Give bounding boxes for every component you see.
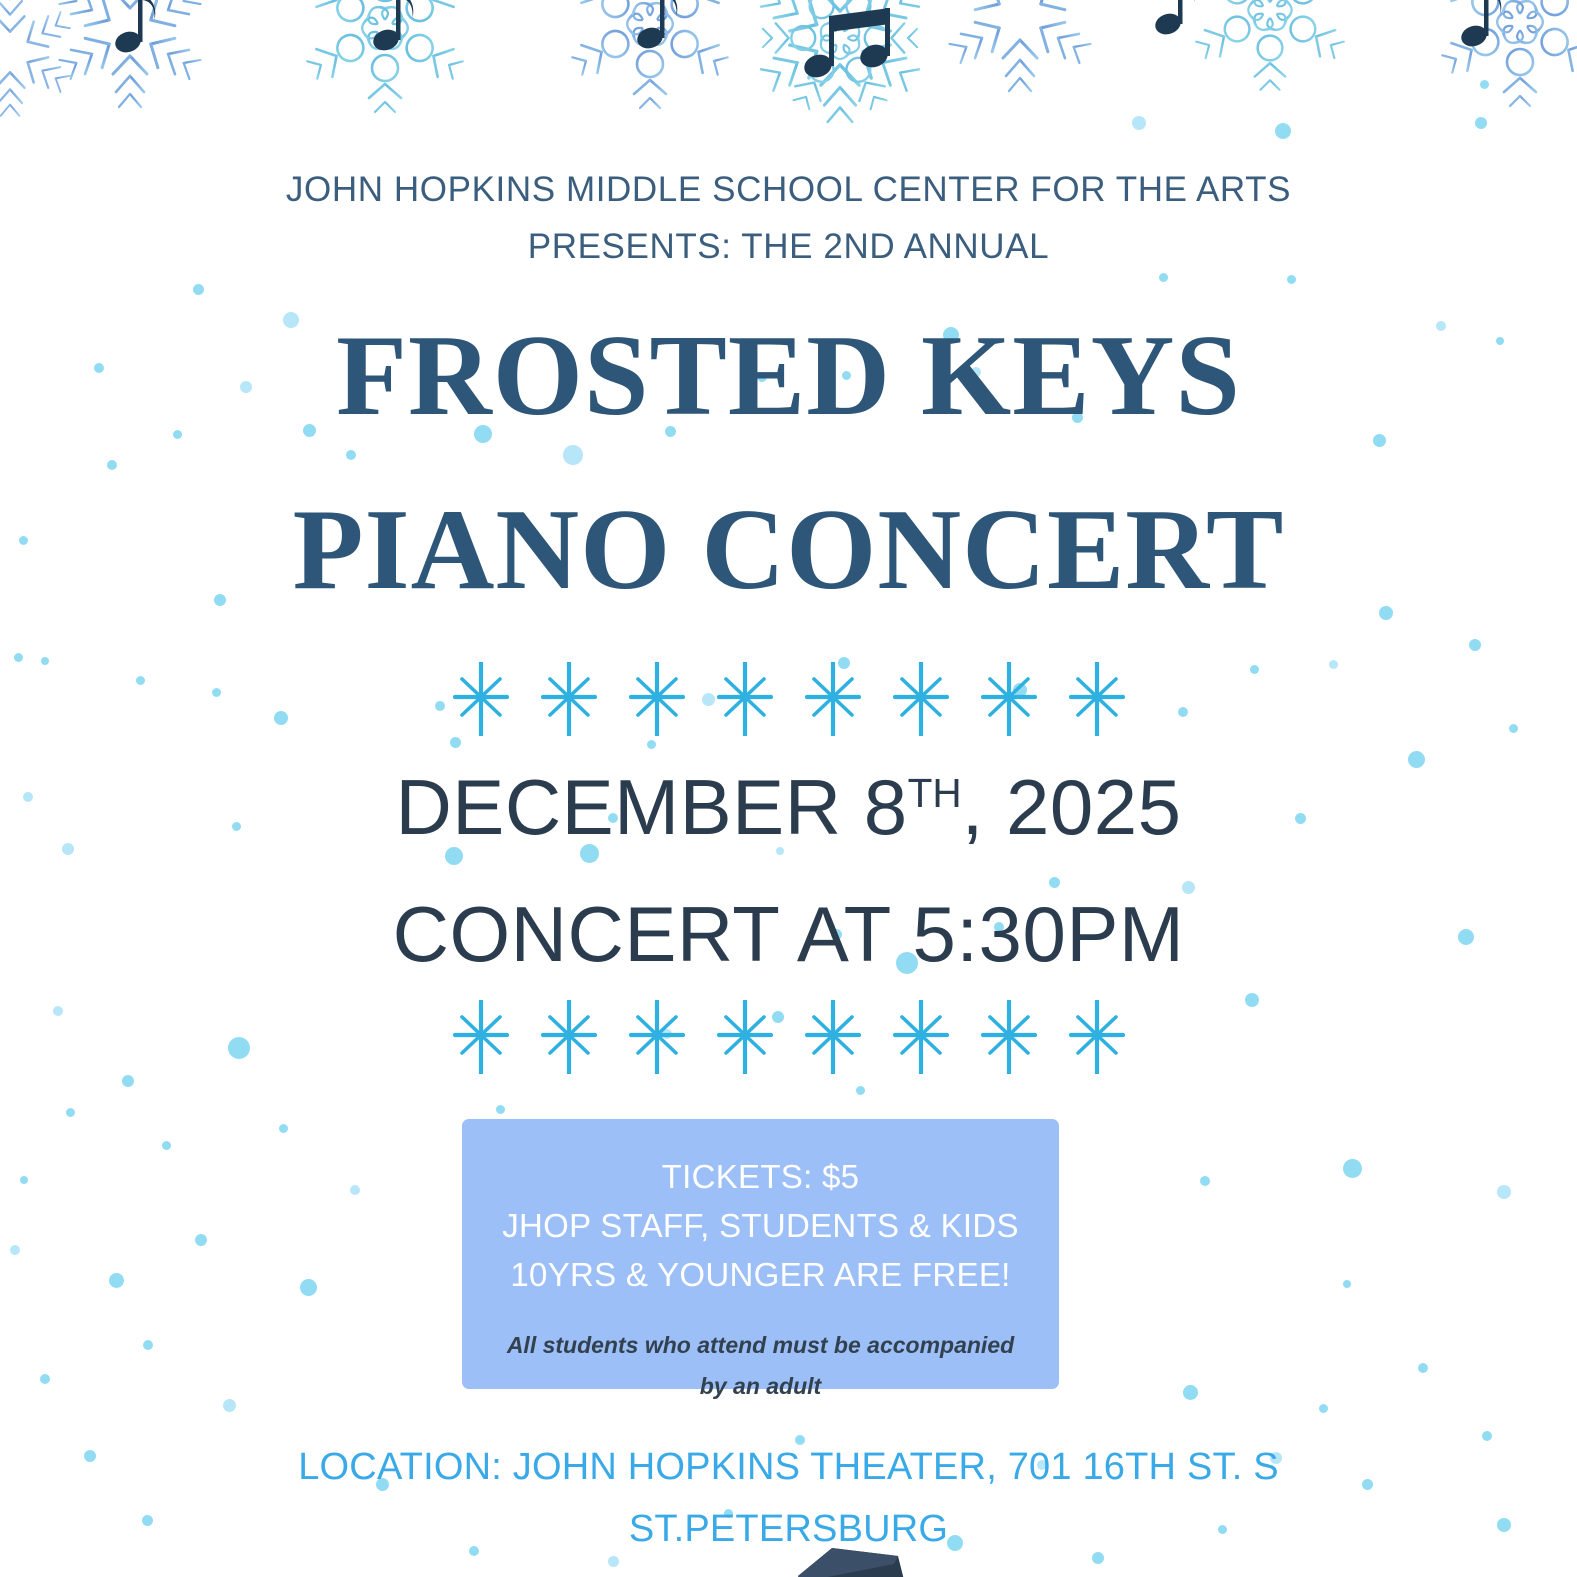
poster-header: JOHN HOPKINS MIDDLE SCHOOL CENTER FOR TH… — [0, 162, 1577, 275]
snow-dot — [223, 1399, 236, 1412]
snowflake-star-icon — [1065, 662, 1129, 736]
event-time: CONCERT AT 5:30PM — [0, 895, 1577, 973]
snow-dot — [563, 445, 583, 465]
snow-dot — [1475, 117, 1487, 129]
snowflake-star-icon — [537, 662, 601, 736]
snow-dot — [1049, 877, 1060, 888]
event-date-ordinal: TH — [908, 770, 962, 816]
snowflake-star-icon — [625, 662, 689, 736]
snow-dot — [1132, 116, 1146, 130]
snow-dot — [350, 1185, 360, 1195]
snow-dot — [496, 1105, 505, 1114]
snow-dot — [193, 284, 204, 295]
snow-dot — [1408, 751, 1425, 768]
snow-dot — [66, 1108, 75, 1117]
beamed-eighth-notes-icon — [801, 8, 890, 81]
tickets-free-age: 10YRS & YOUNGER ARE FREE! — [462, 1251, 1059, 1300]
snowflake-icon — [304, 0, 466, 112]
snow-dot — [143, 1340, 153, 1350]
snow-dot — [107, 460, 117, 470]
music-note-icon — [113, 0, 1502, 81]
snowflake-icon — [1439, 0, 1577, 106]
snowflake-icon — [1193, 0, 1347, 90]
tickets-disclaimer-line-1: All students who attend must be accompan… — [462, 1325, 1059, 1366]
snowflake-star-icon — [801, 1000, 865, 1074]
snowflake-star-icon — [977, 662, 1041, 736]
snow-dot — [1480, 80, 1489, 89]
snow-dot — [450, 737, 461, 748]
header-line-2: PRESENTS: THE 2ND ANNUAL — [0, 219, 1577, 276]
snow-dot — [14, 653, 23, 662]
snow-dot — [1379, 606, 1393, 620]
snowflake-star-icon — [625, 1000, 689, 1074]
snow-dot — [856, 1086, 865, 1095]
snow-dot — [1343, 1280, 1351, 1288]
snow-dot — [195, 1234, 207, 1246]
snowflake-star-icon — [713, 662, 777, 736]
snowflake-star-divider-bottom — [0, 1000, 1577, 1074]
snow-dot — [109, 1273, 124, 1288]
header-line-1: JOHN HOPKINS MIDDLE SCHOOL CENTER FOR TH… — [0, 162, 1577, 219]
snowflake-star-icon — [537, 1000, 601, 1074]
snowflake-icon — [569, 0, 731, 108]
snow-dot — [1319, 1404, 1328, 1413]
tickets-disclaimer-line-2: by an adult — [462, 1366, 1059, 1407]
snow-dot — [1343, 1159, 1362, 1178]
snowflake-star-icon — [977, 1000, 1041, 1074]
snowflake-star-icon — [1065, 1000, 1129, 1074]
page-title-line-2: PIANO CONCERT — [0, 492, 1577, 608]
concert-poster: JOHN HOPKINS MIDDLE SCHOOL CENTER FOR TH… — [0, 0, 1577, 1577]
snow-dot — [162, 1141, 171, 1150]
snowflake-star-divider-top — [0, 662, 1577, 736]
snowflake-star-icon — [889, 662, 953, 736]
snowflake-star-icon — [713, 1000, 777, 1074]
event-date-suffix: , 2025 — [962, 763, 1182, 851]
snow-dot — [1469, 639, 1481, 651]
tickets-free-group: JHOP STAFF, STUDENTS & KIDS — [462, 1202, 1059, 1251]
snow-dot — [1418, 1363, 1428, 1373]
snowflake-star-icon — [449, 662, 513, 736]
event-date: DECEMBER 8TH, 2025 — [0, 768, 1577, 846]
snow-dot — [1275, 123, 1291, 139]
snowflake-border-band — [0, 0, 1577, 170]
snow-dot — [346, 450, 356, 460]
snow-dot — [40, 1374, 50, 1384]
snow-dot — [300, 1279, 317, 1296]
event-location-line-1: LOCATION: JOHN HOPKINS THEATER, 701 16TH… — [0, 1437, 1577, 1499]
snowflake-icon — [0, 0, 81, 125]
tickets-info-box: TICKETS: $5 JHOP STAFF, STUDENTS & KIDS … — [462, 1119, 1059, 1389]
snow-dot — [647, 740, 656, 749]
snow-dot — [1373, 434, 1386, 447]
snowflake-icon — [747, 0, 933, 134]
snow-dot — [1183, 1385, 1198, 1400]
snowflake-star-icon — [889, 1000, 953, 1074]
snow-dot — [122, 1075, 134, 1087]
page-title-line-1: FROSTED KEYS — [0, 318, 1577, 434]
tickets-disclaimer: All students who attend must be accompan… — [462, 1325, 1059, 1407]
tickets-price: TICKETS: $5 — [462, 1153, 1059, 1202]
snowflake-icon — [937, 0, 1103, 102]
snow-dot — [1497, 1185, 1511, 1199]
grand-piano-icon — [770, 1542, 920, 1577]
snowflake-band-svg — [0, 0, 1577, 170]
snow-dot — [10, 1245, 20, 1255]
snow-dot — [1287, 275, 1296, 284]
snowflake-star-icon — [801, 662, 865, 736]
snow-dot — [20, 1176, 28, 1184]
snowflake-star-icon — [449, 1000, 513, 1074]
event-date-prefix: DECEMBER 8 — [395, 763, 907, 851]
snow-dot — [1200, 1176, 1210, 1186]
snow-dot — [279, 1124, 288, 1133]
snowflake-icon — [47, 0, 213, 118]
